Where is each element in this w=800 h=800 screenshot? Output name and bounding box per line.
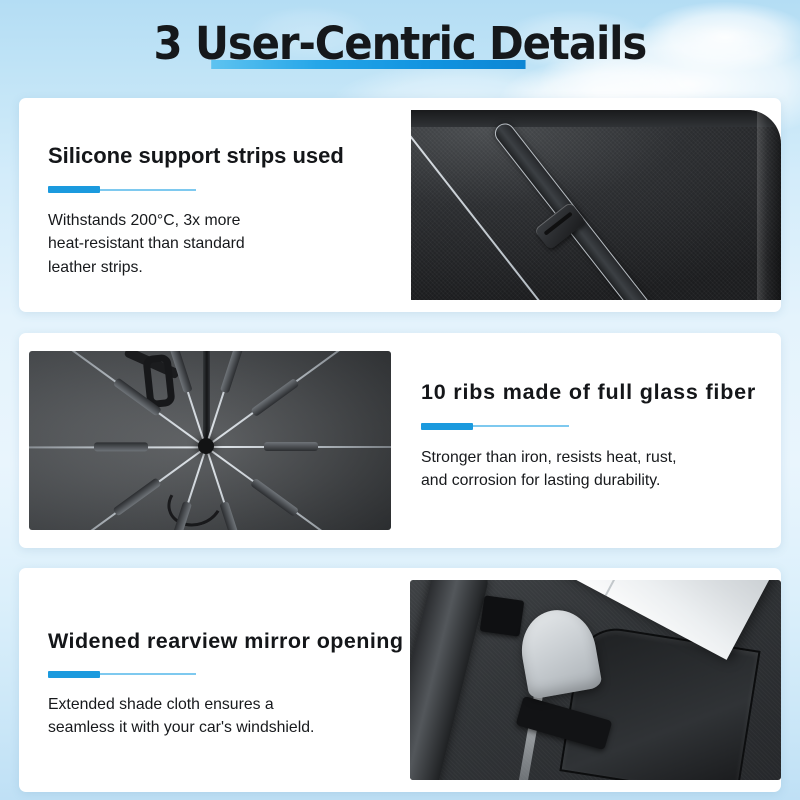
- feature-2-divider: [421, 423, 569, 430]
- feature-1-photo: [411, 110, 781, 300]
- feature-2-heading: 10 ribs made of full glass fiber: [421, 379, 763, 406]
- feature-card-2: 10 ribs made of full glass fiber Stronge…: [19, 333, 781, 548]
- umbrella-rib: [205, 447, 285, 530]
- feature-card-1: Silicone support strips used Withstands …: [19, 98, 781, 312]
- divider-thin-segment: [100, 189, 196, 191]
- divider-thin-segment: [100, 673, 196, 675]
- feature-1-heading: Silicone support strips used: [48, 142, 411, 169]
- feature-card-list: Silicone support strips used Withstands …: [19, 98, 781, 792]
- shade-top-band: [411, 110, 781, 127]
- feature-1-body: Withstands 200°C, 3x more heat-resistant…: [48, 209, 411, 279]
- infographic-page: 3 User-Centric Details Silicone support …: [0, 0, 800, 800]
- shade-rounded-edge: [757, 110, 781, 300]
- page-title-container: 3 User-Centric Details: [0, 18, 800, 70]
- feature-3-photo: [410, 580, 781, 780]
- feature-2-text-block: 10 ribs made of full glass fiber Stronge…: [391, 333, 763, 548]
- feature-2-body: Stronger than iron, resists heat, rust, …: [421, 446, 763, 492]
- divider-thick-segment: [48, 186, 100, 193]
- feature-2-photo: [29, 351, 391, 530]
- feature-3-text-block: Widened rearview mirror opening Extended…: [19, 568, 419, 792]
- feature-3-heading: Widened rearview mirror opening: [48, 628, 419, 655]
- feature-3-body: Extended shade cloth ensures a seamless …: [48, 693, 419, 739]
- divider-thin-segment: [473, 425, 569, 427]
- strap-fold: [515, 604, 602, 700]
- feature-3-divider: [48, 671, 196, 678]
- divider-thick-segment: [48, 671, 100, 678]
- umbrella-rib: [29, 446, 206, 448]
- feature-1-text-block: Silicone support strips used Withstands …: [19, 98, 411, 312]
- feature-1-divider: [48, 186, 196, 193]
- support-wire: [411, 119, 561, 300]
- page-title-prefix: 3: [154, 17, 195, 70]
- divider-thick-segment: [421, 423, 473, 430]
- page-title-highlight: User-Centric: [195, 17, 476, 70]
- shade-panel-edge: [410, 580, 491, 780]
- velcro-patch-top: [480, 595, 525, 636]
- umbrella-rib: [206, 446, 391, 448]
- feature-card-3: Widened rearview mirror opening Extended…: [19, 568, 781, 792]
- page-title: 3 User-Centric Details: [154, 18, 647, 70]
- page-title-suffix: Details: [476, 17, 647, 70]
